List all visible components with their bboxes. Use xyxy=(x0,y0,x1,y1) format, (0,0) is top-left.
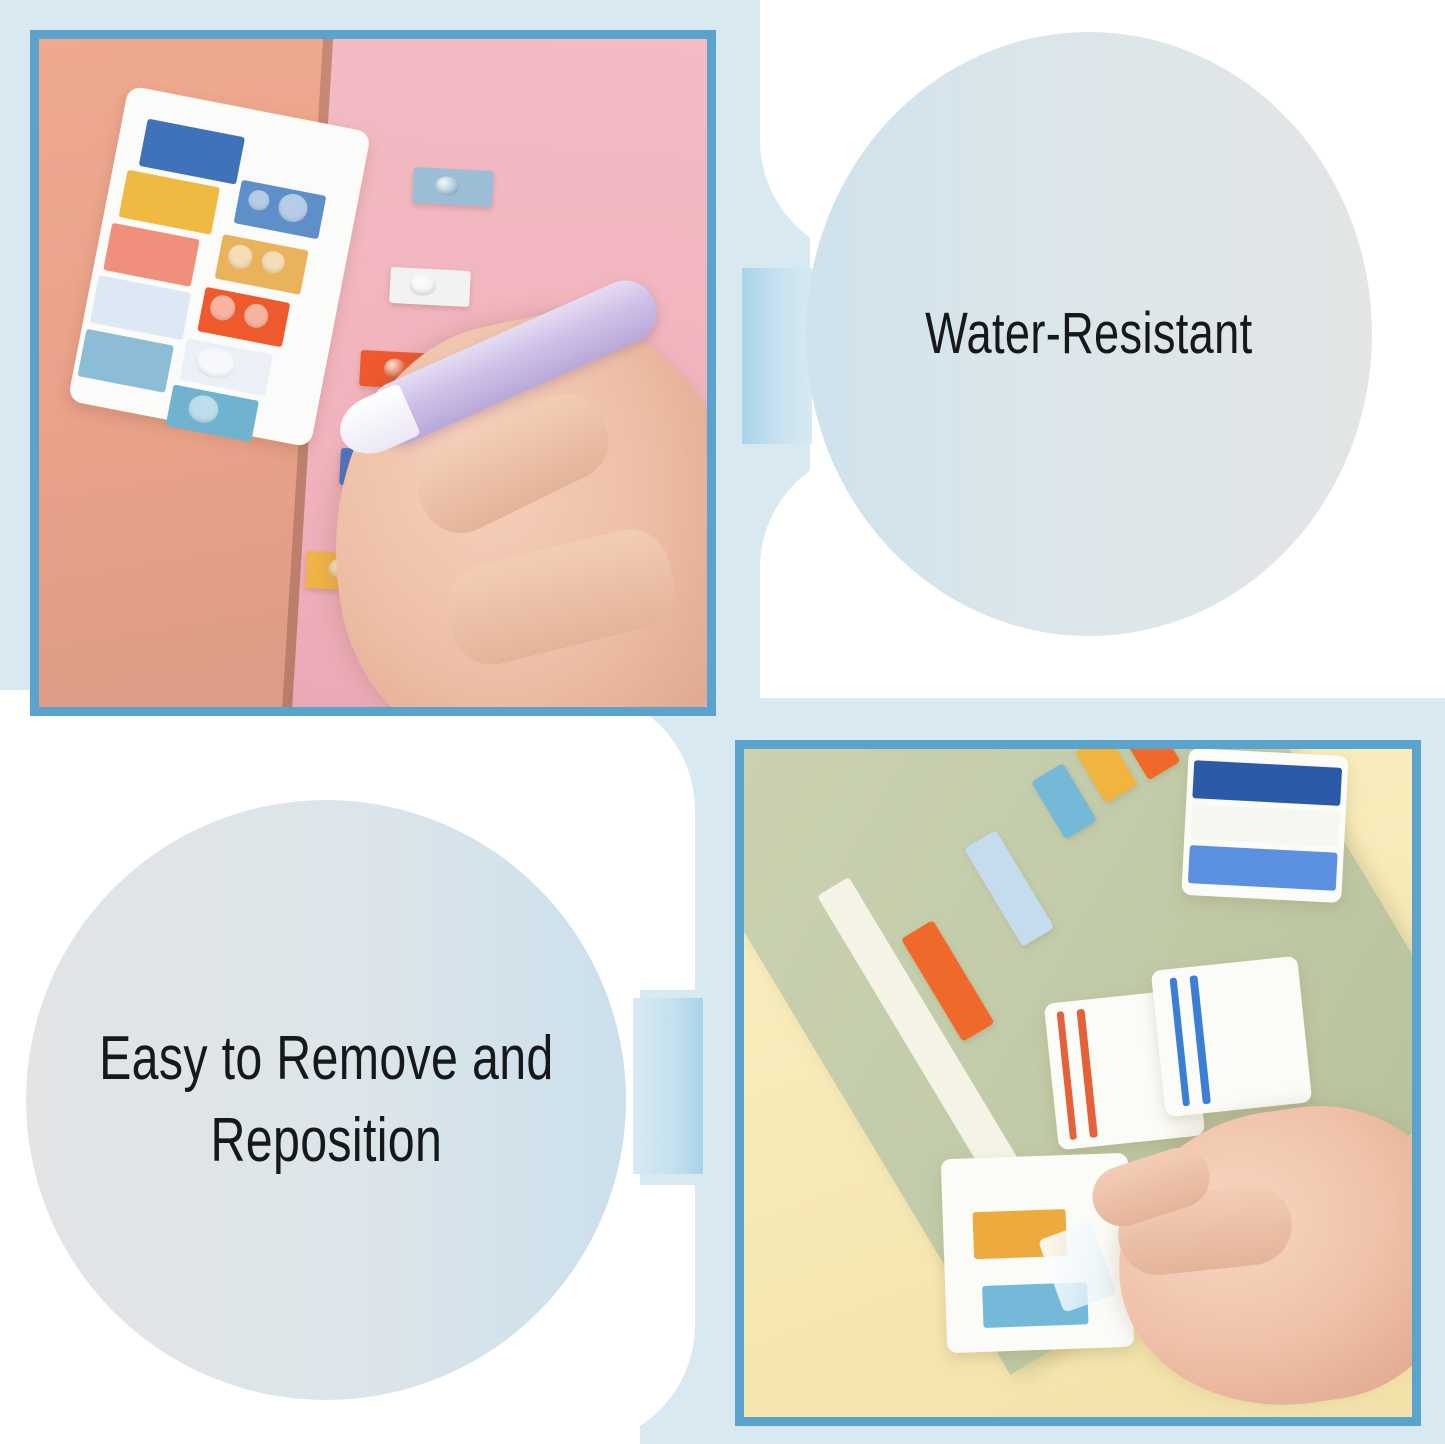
page-tab-clear xyxy=(389,267,471,307)
photo-writing-on-tab xyxy=(30,30,716,716)
feature-label-easy-remove: Easy to Remove and Reposition xyxy=(99,1018,554,1182)
swatch-sky-blue xyxy=(77,328,174,392)
stripe-orange xyxy=(1057,1011,1078,1140)
water-droplet xyxy=(226,243,254,271)
swatch-mid-blue xyxy=(233,179,326,240)
water-droplet xyxy=(246,188,270,212)
striped-tab-card-right xyxy=(1151,955,1313,1117)
photo-peeling-tab xyxy=(735,740,1421,1426)
band-white xyxy=(1190,804,1339,847)
water-droplet xyxy=(408,275,436,297)
blue-tab-card xyxy=(1181,749,1349,903)
swatch-amber xyxy=(214,234,307,295)
swatch-coral xyxy=(103,222,200,286)
page-tab-light-blue xyxy=(412,167,494,207)
connector-tab-top xyxy=(742,268,812,444)
band-dark-blue xyxy=(1193,760,1342,806)
water-droplet xyxy=(193,344,238,381)
water-droplet xyxy=(208,293,237,322)
water-droplet xyxy=(276,191,310,224)
feature-circle-easy-remove: Easy to Remove and Reposition xyxy=(26,800,626,1400)
water-droplet xyxy=(242,302,270,330)
band-light-blue xyxy=(1188,845,1337,891)
swatch-orange xyxy=(197,286,290,347)
swatch-yellow xyxy=(118,170,219,235)
stripe-blue xyxy=(1169,977,1190,1106)
feature-collage: Water-Resistant Easy to Remove and Repos… xyxy=(0,0,1445,1444)
connector-tab-bottom xyxy=(633,998,703,1174)
feature-label-water-resistant: Water-Resistant xyxy=(925,296,1252,373)
swatch-white xyxy=(180,338,273,395)
swatch-pale-blue xyxy=(90,275,191,340)
stripe-blue xyxy=(1190,975,1211,1104)
water-droplet xyxy=(260,249,286,275)
feature-circle-water-resistant: Water-Resistant xyxy=(806,32,1372,636)
water-droplet xyxy=(186,392,220,425)
water-droplet xyxy=(434,176,459,196)
stripe-orange xyxy=(1077,1009,1098,1138)
